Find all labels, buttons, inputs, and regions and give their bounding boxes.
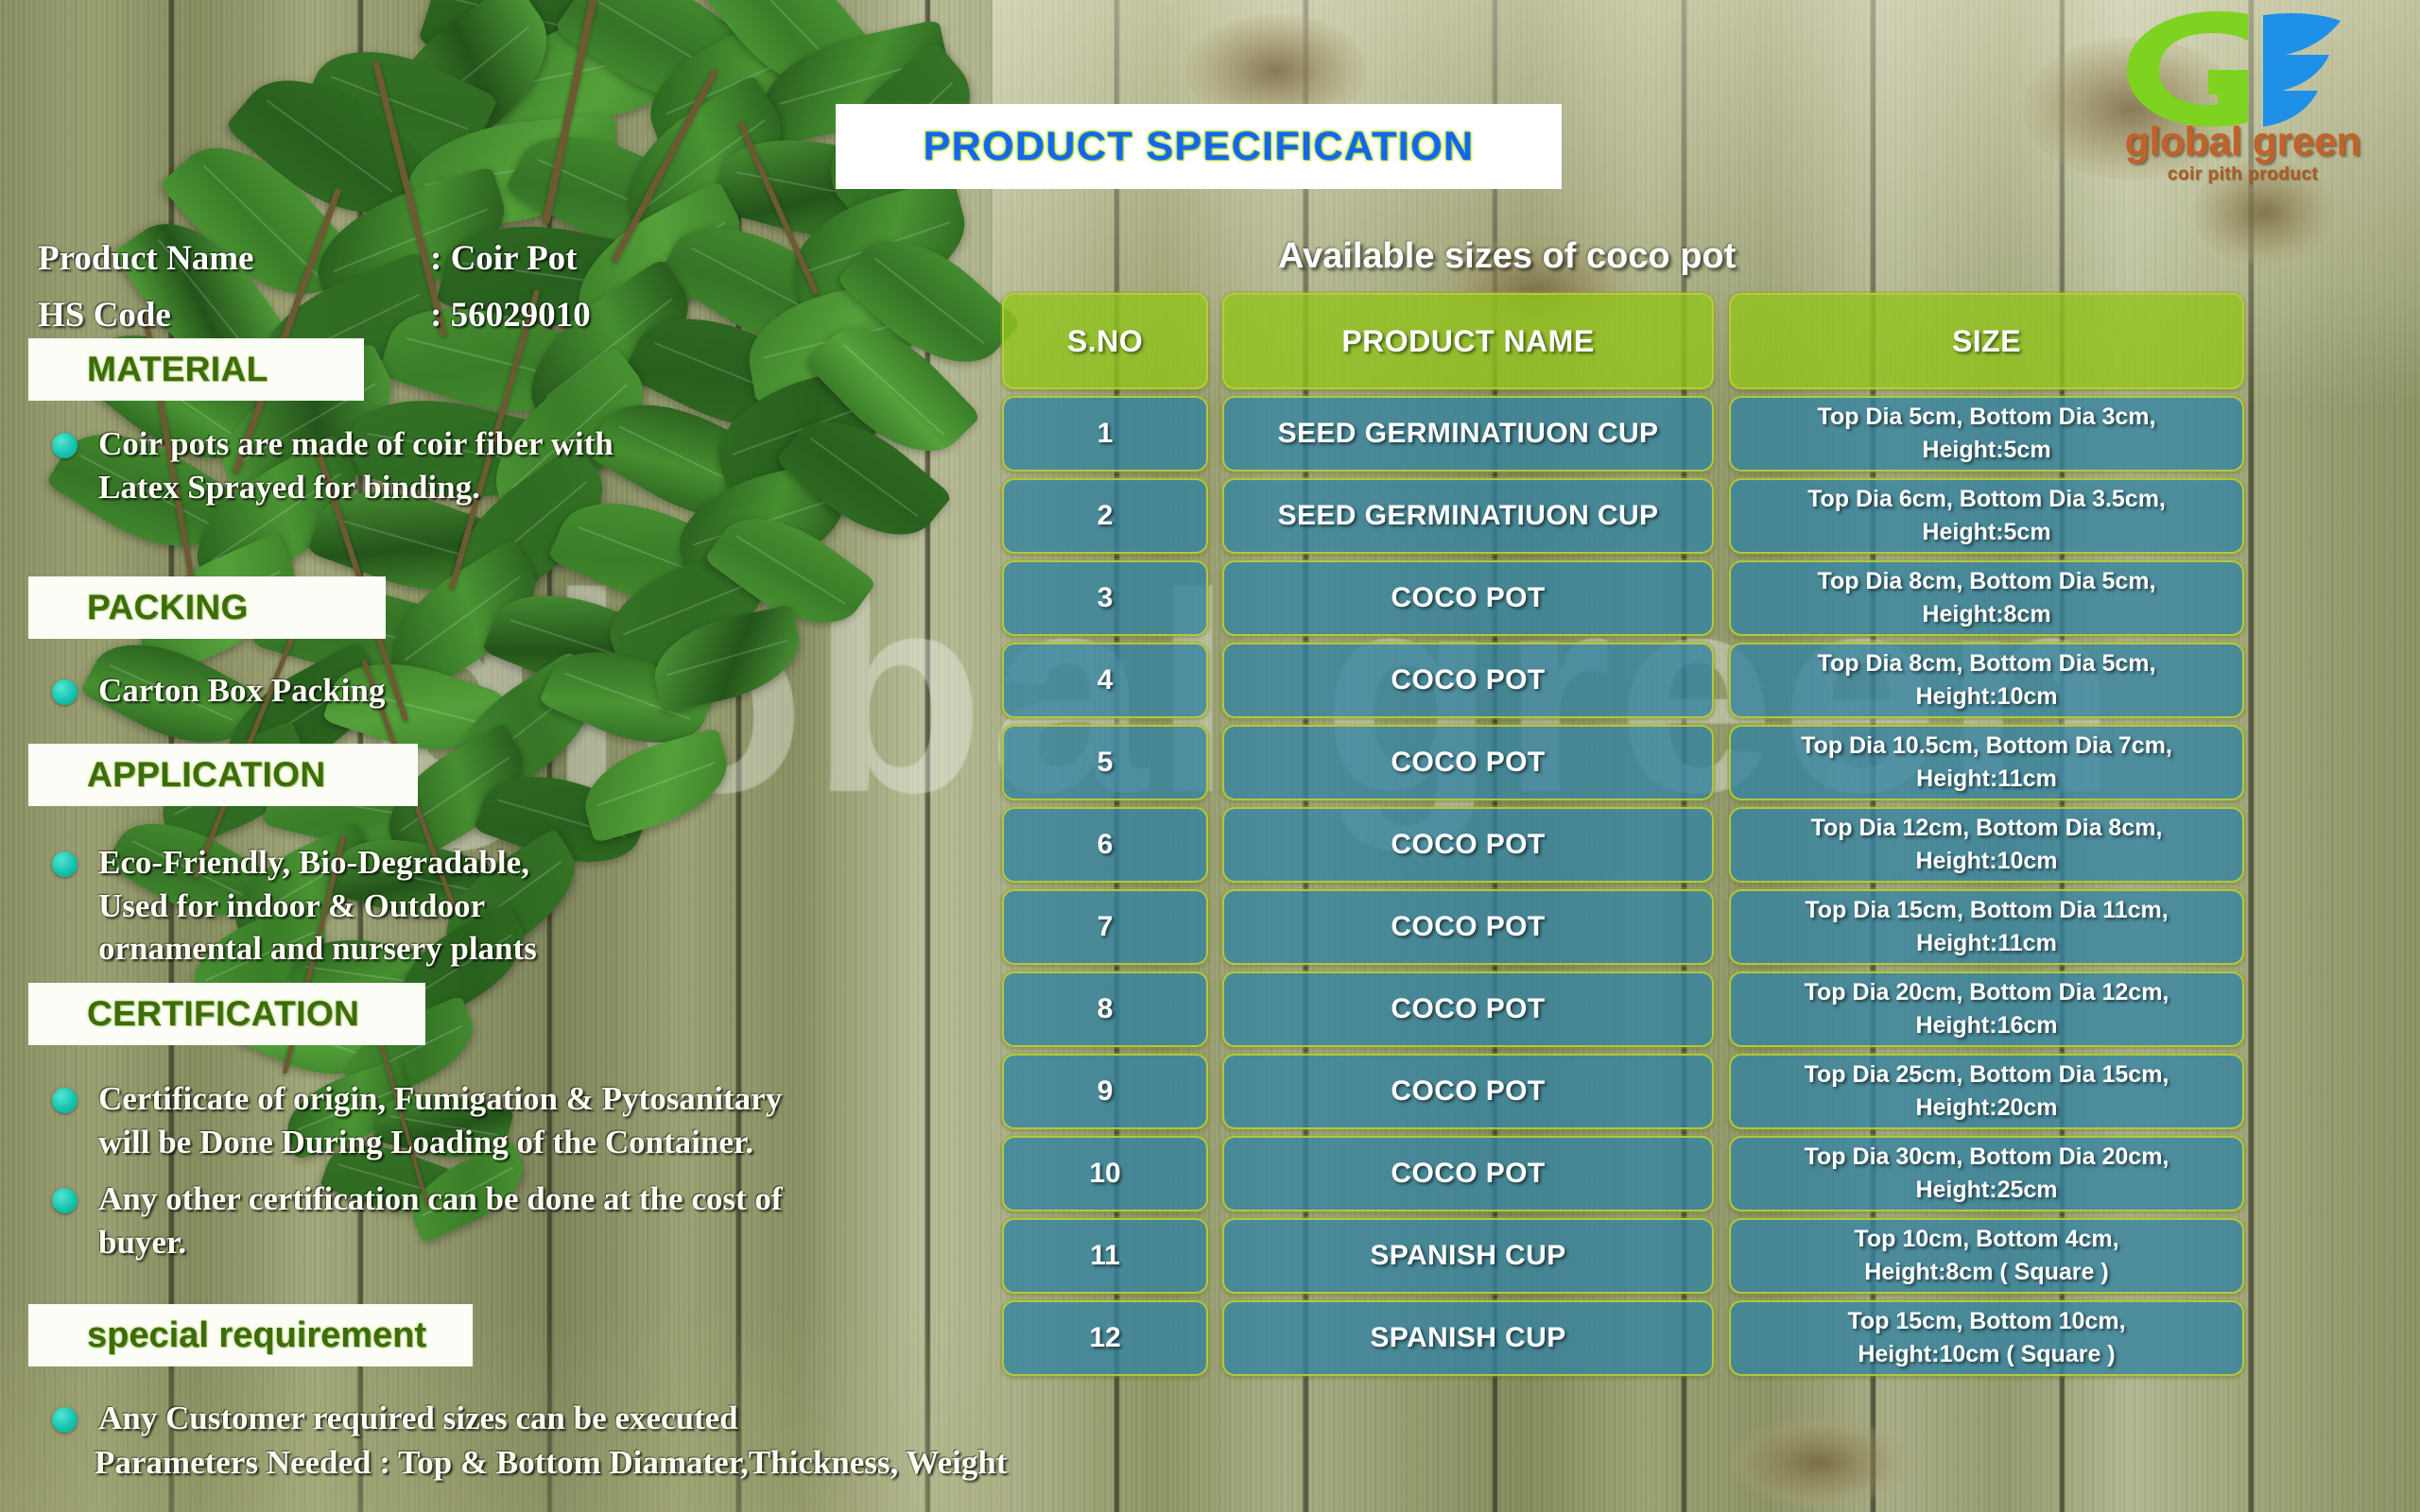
bullet-dot-icon bbox=[52, 851, 78, 877]
cell-product-name: COCO POT bbox=[1222, 807, 1714, 883]
cell-size: Top Dia 20cm, Bottom Dia 12cm, Height:16… bbox=[1729, 971, 2244, 1047]
hs-code-value: : 56029010 bbox=[430, 295, 591, 335]
cell-sno: 1 bbox=[1002, 396, 1208, 472]
cell-product-name: SPANISH CUP bbox=[1222, 1300, 1714, 1376]
table-row: 12SPANISH CUPTop 15cm, Bottom 10cm, Heig… bbox=[1002, 1300, 2244, 1376]
hs-code-label: HS Code bbox=[38, 295, 171, 335]
cell-sno: 10 bbox=[1002, 1136, 1208, 1211]
sizes-table: S.NO PRODUCT NAME SIZE 1SEED GERMINATIUO… bbox=[1002, 293, 2244, 1383]
bullet-dot-icon bbox=[52, 679, 78, 705]
table-row: 7COCO POTTop Dia 15cm, Bottom Dia 11cm, … bbox=[1002, 889, 2244, 965]
column-header-sno: S.NO bbox=[1002, 293, 1208, 389]
list-item: Certificate of origin, Fumigation & Pyto… bbox=[52, 1077, 1007, 1163]
section-heading-application: APPLICATION bbox=[28, 744, 418, 806]
cell-size: Top 15cm, Bottom 10cm, Height:10cm ( Squ… bbox=[1729, 1300, 2244, 1376]
table-row: 6COCO POTTop Dia 12cm, Bottom Dia 8cm, H… bbox=[1002, 807, 2244, 883]
cell-sno: 2 bbox=[1002, 478, 1208, 554]
cell-product-name: COCO POT bbox=[1222, 889, 1714, 965]
section-heading-material: MATERIAL bbox=[28, 338, 364, 401]
table-body: 1SEED GERMINATIUON CUPTop Dia 5cm, Botto… bbox=[1002, 396, 2244, 1376]
cell-product-name: SEED GERMINATIUON CUP bbox=[1222, 396, 1714, 472]
wood-knot bbox=[1730, 1417, 1910, 1507]
cell-product-name: COCO POT bbox=[1222, 725, 1714, 800]
logo-tagline: coir pith product bbox=[2080, 164, 2406, 185]
column-header-product-name: PRODUCT NAME bbox=[1222, 293, 1714, 389]
bullet-dot-icon bbox=[52, 433, 78, 458]
cell-size: Top Dia 15cm, Bottom Dia 11cm, Height:11… bbox=[1729, 889, 2244, 965]
section-heading-application-label: APPLICATION bbox=[87, 755, 325, 795]
title-plate: PRODUCT SPECIFICATION bbox=[836, 104, 1562, 189]
cell-sno: 3 bbox=[1002, 560, 1208, 636]
list-item: Carton Box Packing bbox=[52, 669, 714, 713]
material-bullet-text: Coir pots are made of coir fiber with La… bbox=[98, 422, 614, 508]
table-row: 11SPANISH CUPTop 10cm, Bottom 4cm, Heigh… bbox=[1002, 1218, 2244, 1294]
list-item: Coir pots are made of coir fiber with La… bbox=[52, 422, 770, 508]
table-row: 9COCO POTTop Dia 25cm, Bottom Dia 15cm, … bbox=[1002, 1054, 2244, 1129]
cell-size: Top Dia 12cm, Bottom Dia 8cm, Height:10c… bbox=[1729, 807, 2244, 883]
special-requirement-bullet-text: Any Customer required sizes can be execu… bbox=[98, 1397, 738, 1440]
bullet-dot-icon bbox=[52, 1188, 78, 1213]
cell-product-name: COCO POT bbox=[1222, 971, 1714, 1047]
cell-sno: 12 bbox=[1002, 1300, 1208, 1376]
logo: global green coir pith product bbox=[2080, 8, 2406, 182]
bullet-dot-icon bbox=[52, 1407, 78, 1433]
certification-bullet-text-2: Any other certification can be done at t… bbox=[98, 1177, 783, 1263]
product-name-label: Product Name bbox=[38, 238, 253, 279]
list-item: Eco-Friendly, Bio-Degradable, Used for i… bbox=[52, 841, 770, 971]
cell-product-name: COCO POT bbox=[1222, 643, 1714, 718]
logo-name: global green bbox=[2080, 119, 2406, 165]
cell-size: Top 10cm, Bottom 4cm, Height:8cm ( Squar… bbox=[1729, 1218, 2244, 1294]
poster-canvas: global green PRODUCT SPECIFICATION Produ… bbox=[0, 0, 2420, 1512]
cell-product-name: SEED GERMINATIUON CUP bbox=[1222, 478, 1714, 554]
page-title: PRODUCT SPECIFICATION bbox=[924, 124, 1475, 170]
section-heading-packing: PACKING bbox=[28, 576, 386, 639]
cell-size: Top Dia 6cm, Bottom Dia 3.5cm, Height:5c… bbox=[1729, 478, 2244, 554]
parameters-note: Parameters Needed : Top & Bottom Diamate… bbox=[95, 1444, 1007, 1482]
table-header-row: S.NO PRODUCT NAME SIZE bbox=[1002, 293, 2244, 389]
section-heading-special-requirement: special requirement bbox=[28, 1304, 473, 1366]
certification-bullet-text-1: Certificate of origin, Fumigation & Pyto… bbox=[98, 1077, 782, 1163]
table-row: 10COCO POTTop Dia 30cm, Bottom Dia 20cm,… bbox=[1002, 1136, 2244, 1211]
column-header-size: SIZE bbox=[1729, 293, 2244, 389]
cell-product-name: COCO POT bbox=[1222, 1136, 1714, 1211]
global-green-logo-icon bbox=[2106, 8, 2380, 130]
bullet-dot-icon bbox=[52, 1088, 78, 1113]
cell-sno: 6 bbox=[1002, 807, 1208, 883]
application-bullet-text: Eco-Friendly, Bio-Degradable, Used for i… bbox=[98, 841, 537, 971]
cell-size: Top Dia 8cm, Bottom Dia 5cm, Height:10cm bbox=[1729, 643, 2244, 718]
section-heading-material-label: MATERIAL bbox=[87, 350, 268, 389]
section-heading-special-requirement-label: special requirement bbox=[87, 1315, 426, 1356]
table-row: 4COCO POTTop Dia 8cm, Bottom Dia 5cm, He… bbox=[1002, 643, 2244, 718]
cell-sno: 8 bbox=[1002, 971, 1208, 1047]
cell-size: Top Dia 8cm, Bottom Dia 5cm, Height:8cm bbox=[1729, 560, 2244, 636]
list-item: Any Customer required sizes can be execu… bbox=[52, 1397, 950, 1440]
section-heading-packing-label: PACKING bbox=[87, 588, 249, 627]
cell-product-name: COCO POT bbox=[1222, 1054, 1714, 1129]
cell-product-name: COCO POT bbox=[1222, 560, 1714, 636]
cell-size: Top Dia 25cm, Bottom Dia 15cm, Height:20… bbox=[1729, 1054, 2244, 1129]
cell-sno: 4 bbox=[1002, 643, 1208, 718]
product-name-value: : Coir Pot bbox=[430, 238, 578, 279]
cell-sno: 11 bbox=[1002, 1218, 1208, 1294]
section-heading-certification-label: CERTIFICATION bbox=[87, 994, 359, 1034]
cell-size: Top Dia 30cm, Bottom Dia 20cm, Height:25… bbox=[1729, 1136, 2244, 1211]
section-heading-certification: CERTIFICATION bbox=[28, 983, 425, 1045]
table-row: 1SEED GERMINATIUON CUPTop Dia 5cm, Botto… bbox=[1002, 396, 2244, 472]
list-item: Any other certification can be done at t… bbox=[52, 1177, 1007, 1263]
table-row: 3COCO POTTop Dia 8cm, Bottom Dia 5cm, He… bbox=[1002, 560, 2244, 636]
cell-size: Top Dia 10.5cm, Bottom Dia 7cm, Height:1… bbox=[1729, 725, 2244, 800]
table-subtitle: Available sizes of coco pot bbox=[1278, 236, 1736, 277]
cell-product-name: SPANISH CUP bbox=[1222, 1218, 1714, 1294]
cell-size: Top Dia 5cm, Bottom Dia 3cm, Height:5cm bbox=[1729, 396, 2244, 472]
packing-bullet-text: Carton Box Packing bbox=[98, 669, 385, 713]
table-row: 8COCO POTTop Dia 20cm, Bottom Dia 12cm, … bbox=[1002, 971, 2244, 1047]
cell-sno: 7 bbox=[1002, 889, 1208, 965]
table-row: 5COCO POTTop Dia 10.5cm, Bottom Dia 7cm,… bbox=[1002, 725, 2244, 800]
table-row: 2SEED GERMINATIUON CUPTop Dia 6cm, Botto… bbox=[1002, 478, 2244, 554]
cell-sno: 5 bbox=[1002, 725, 1208, 800]
cell-sno: 9 bbox=[1002, 1054, 1208, 1129]
